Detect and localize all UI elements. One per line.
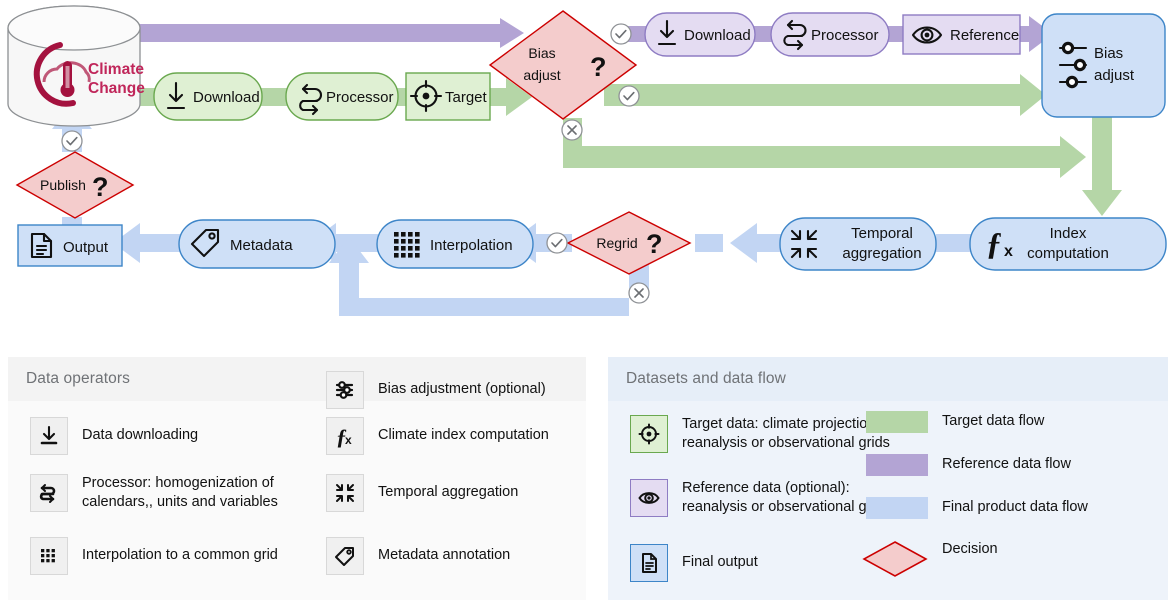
node-label-line1: Index [1050, 225, 1087, 242]
legend-item-label-line1: Target data: climate projections, [682, 416, 887, 432]
legend-item-processor: Processor: homogenization of calendars,,… [30, 474, 340, 512]
decision-label-line1: Publish [40, 177, 86, 193]
marker-bias-yes-target [619, 86, 639, 106]
legend-item-label: Reference data (optional): reanalysis or… [682, 479, 890, 517]
decision-question-mark: ? [92, 172, 109, 202]
legend-flow-decision: Decision [860, 539, 1150, 561]
node-label: Metadata [230, 237, 293, 254]
legend-item-label-line2: reanalysis or observational grids [682, 435, 890, 451]
decision-regrid[interactable]: Regrid ? [568, 212, 690, 274]
grid-dots-icon [30, 537, 68, 575]
svg-text:ƒ: ƒ [986, 225, 1002, 261]
compress-arrows-icon [326, 474, 364, 512]
node-label: Processor [811, 27, 879, 44]
legend-item-label: Processor: homogenization of calendars,,… [82, 474, 278, 512]
legend-item-label: Interpolation to a common grid [82, 546, 278, 565]
node-label-line1: Temporal [851, 225, 913, 242]
node-label: Output [63, 239, 109, 256]
node-reference-download[interactable]: Download [645, 13, 755, 56]
legend-item-temporal-aggregation: Temporal aggregation [326, 474, 576, 512]
sliders-icon [326, 371, 364, 409]
legend-item-index-computation: ƒ x Climate index computation [326, 417, 576, 455]
node-label: Download [193, 89, 260, 106]
legend-item-download: Data downloading [30, 417, 330, 455]
document-icon [630, 544, 668, 582]
datastore-label-line1: Climate [88, 61, 144, 78]
node-label-line2: computation [1027, 245, 1109, 262]
node-label: Target [445, 89, 488, 106]
legend-item-label: Metadata annotation [378, 546, 510, 565]
product-flow-publish-to-output [62, 217, 82, 225]
legend-item-bias-adjustment: Bias adjustment (optional) [326, 371, 576, 409]
node-target-processor[interactable]: Processor [286, 73, 398, 120]
legend-data-operators: Data operators Data downloading Processo… [8, 357, 586, 600]
reference-flow-swatch [866, 454, 928, 476]
processor-icon [30, 474, 68, 512]
legend-item-label-line1: Reference data (optional): [682, 480, 850, 496]
legend-item-label: Climate index computation [378, 426, 549, 445]
marker-bias-yes-reference [611, 24, 631, 44]
legend-flow-product: Final product data flow [866, 497, 1156, 519]
legend-datasets-and-data-flow: Datasets and data flow Target data: clim… [608, 357, 1168, 600]
node-label: Processor [326, 89, 394, 106]
legend-item-label-line1: Processor: homogenization of [82, 475, 274, 491]
workflow-flowchart: .gf{fill:#b5d6a7}.pf{fill:#b3a4d4}.bf{fi… [0, 0, 1176, 340]
legend-item-label-line2: calendars,, units and variables [82, 494, 278, 510]
datastore-label-line2: Change [88, 80, 145, 97]
node-interpolation[interactable]: Interpolation [377, 220, 533, 268]
download-icon [30, 417, 68, 455]
marker-publish-yes [62, 131, 82, 151]
node-reference-dataset[interactable]: Reference [903, 15, 1020, 54]
decision-publish[interactable]: Publish ? [17, 152, 133, 218]
node-target-download[interactable]: Download [154, 73, 262, 120]
legend-flow-label: Reference data flow [942, 455, 1071, 474]
node-label-line2: aggregation [842, 245, 921, 262]
climate-change-datastore: Climate Change [8, 6, 145, 126]
legend-flow-target: Target data flow [866, 411, 1156, 433]
decision-diamond-icon [860, 539, 922, 561]
node-temporal-aggregation[interactable]: Temporal aggregation [780, 218, 936, 270]
target-flow-bias-no [563, 118, 1086, 178]
node-label: Interpolation [430, 237, 513, 254]
node-target-dataset[interactable]: Target [406, 73, 490, 120]
legend-flow-label: Decision [942, 540, 998, 559]
tag-icon [326, 537, 364, 575]
marker-regrid-no [629, 283, 649, 303]
target-flow-swatch [866, 411, 928, 433]
eye-icon [630, 479, 668, 517]
legend-item-label: Temporal aggregation [378, 483, 518, 502]
node-index-computation[interactable]: ƒ x Index computation [970, 218, 1166, 270]
node-bias-adjust[interactable]: Bias adjust [1042, 14, 1165, 117]
legend-flow-label: Final product data flow [942, 498, 1088, 517]
legend-item-label-line2: reanalysis or observational grids [682, 499, 890, 515]
legend-item-label: Target data: climate projections, reanal… [682, 415, 890, 453]
svg-text:x: x [345, 433, 352, 447]
node-metadata[interactable]: Metadata [179, 220, 335, 268]
fx-icon: ƒ x [326, 417, 364, 455]
svg-text:x: x [1004, 243, 1013, 260]
node-reference-processor[interactable]: Processor [771, 13, 889, 56]
reference-data-flow-arrow [78, 18, 524, 48]
node-label-line2: adjust [1094, 67, 1135, 84]
decision-question-mark: ? [646, 229, 663, 259]
target-flow-bias-yes [604, 74, 1046, 116]
node-label-line1: Bias [1094, 45, 1123, 62]
decision-label-line1: Regrid [596, 235, 637, 251]
marker-regrid-yes [547, 233, 567, 253]
product-flow-swatch [866, 497, 928, 519]
legend-item-interpolation: Interpolation to a common grid [30, 537, 340, 575]
legend-item-label: Bias adjustment (optional) [378, 380, 546, 399]
target-flow-to-index [1082, 112, 1122, 216]
legend-right-header: Datasets and data flow [608, 357, 1168, 401]
decision-label-line1: Bias [528, 45, 555, 61]
legend-flow-label: Target data flow [942, 412, 1044, 431]
legend-item-label: Final output [682, 553, 758, 572]
legend-right-title: Datasets and data flow [608, 357, 1168, 388]
decision-question-mark: ? [590, 52, 607, 82]
diagram-canvas: .gf{fill:#b5d6a7}.pf{fill:#b3a4d4}.bf{fi… [0, 0, 1176, 604]
decision-label-line2: adjust [523, 67, 560, 83]
node-label: Download [684, 27, 751, 44]
legend-flow-reference: Reference data flow [866, 454, 1156, 476]
marker-bias-no-target [562, 120, 582, 140]
node-output[interactable]: Output [18, 225, 122, 266]
legend-item-label: Data downloading [82, 426, 198, 445]
node-label: Reference [950, 27, 1019, 44]
legend-item-metadata: Metadata annotation [326, 537, 576, 575]
target-crosshair-icon [630, 415, 668, 453]
